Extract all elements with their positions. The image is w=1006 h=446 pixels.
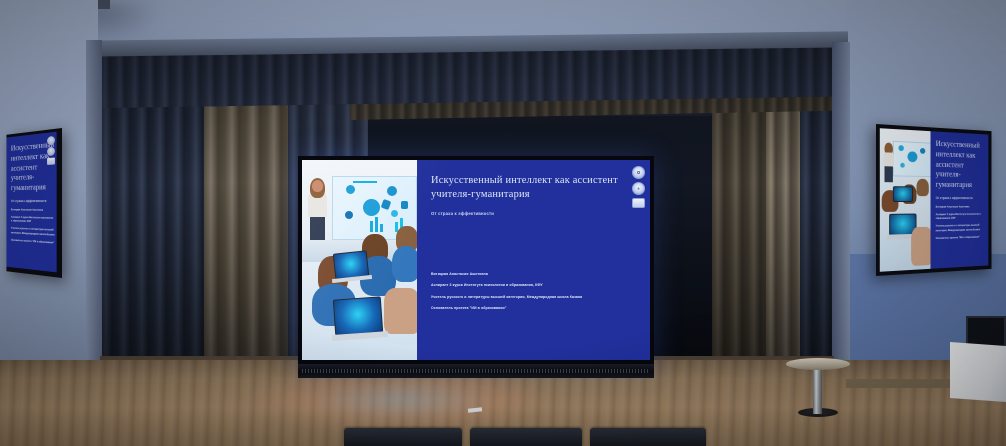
credit-position-teacher: Учитель русского и литературы высшей кат… xyxy=(936,224,986,233)
slide-credits: Витицкая Анастасия Ашотовна Аспирант 3 к… xyxy=(431,272,640,317)
curtain-right-dark xyxy=(800,94,834,386)
credit-position-phd: Аспирант 3 курса Института психологии и … xyxy=(936,213,986,221)
flipchart-sheet xyxy=(950,342,1006,402)
classroom-ai-lesson-photo xyxy=(302,160,417,360)
auditorium-scene: ✪ ⚜ Искусственный интеллект как ассистен… xyxy=(0,0,1006,446)
credit-position-phd: Аспирант 3 курса Института психологии и … xyxy=(11,216,55,225)
led-screen-base xyxy=(298,364,654,378)
partner-badge-logo xyxy=(632,198,645,208)
credit-position-teacher: Учитель русского и литературы высшей кат… xyxy=(431,295,640,300)
right-side-monitor[interactable]: Искусственный интеллект как ассистент уч… xyxy=(876,124,991,276)
table-pedestal xyxy=(813,366,822,414)
curtain-right-tan-1 xyxy=(712,98,774,386)
credit-author-name: Витицкая Анастасия Ашотовна xyxy=(936,205,986,209)
credit-position-phd: Аспирант 3 курса Института психологии и … xyxy=(431,283,640,288)
floor-screen-reflection xyxy=(250,372,550,428)
audience-chair[interactable] xyxy=(590,428,706,446)
slide-surface: ✪ ⚜ Искусственный интеллект как ассистен… xyxy=(302,160,650,360)
right-monitor-slide-text: Искусственный интеллект как ассистент уч… xyxy=(931,131,989,269)
institute-emblem-logo: ⚜ xyxy=(632,182,645,195)
white-flipchart-board[interactable] xyxy=(950,344,1006,402)
right-monitor-screen: Искусственный интеллект как ассистент уч… xyxy=(880,128,989,272)
left-monitor-subtitle: От страха к эффективности xyxy=(11,199,54,203)
partner-badge-logo xyxy=(47,158,55,165)
credit-author-name: Витицкая Анастасия Ашотовна xyxy=(11,209,55,214)
right-monitor-photo xyxy=(880,128,931,272)
teacher-figure xyxy=(310,215,325,241)
left-side-monitor[interactable]: Искусственный интеллект как ассистент уч… xyxy=(6,128,62,278)
university-emblem-logo: ✪ xyxy=(632,166,645,179)
left-monitor-screen: Искусственный интеллект как ассистент уч… xyxy=(6,132,56,273)
round-cocktail-table[interactable] xyxy=(786,358,850,420)
audience-chair[interactable] xyxy=(344,428,462,446)
left-monitor-credits: Витицкая Анастасия Ашотовна Аспирант 3 к… xyxy=(11,209,55,250)
curtain-left-dark xyxy=(100,90,208,386)
curtain-left-tan xyxy=(204,94,296,386)
slide-title: Искусственный интеллект как ассистент уч… xyxy=(431,174,640,201)
credit-project-founder: Основатель проекта "ИИ в образовании" xyxy=(11,238,55,245)
slide-subtitle: От страха к эффективности xyxy=(431,211,640,216)
table-top xyxy=(786,358,850,370)
credit-project-founder: Основатель проекта "ИИ в образовании" xyxy=(431,306,640,311)
right-monitor-credits: Витицкая Анастасия Ашотовна Аспирант 3 к… xyxy=(936,205,986,244)
audience-chair[interactable] xyxy=(470,428,582,446)
credit-project-founder: Основатель проекта "ИИ в образовании" xyxy=(936,235,986,241)
slide-logo-group: ✪ ⚜ xyxy=(632,166,645,208)
led-vent-strip xyxy=(302,369,650,373)
left-monitor-logos xyxy=(47,136,55,165)
left-monitor-slide-text: Искусственный интеллект как ассистент уч… xyxy=(6,132,56,273)
credit-position-teacher: Учитель русского и литературы высшей кат… xyxy=(11,227,55,237)
institute-emblem-logo xyxy=(47,147,55,157)
slide-text-panel: ✪ ⚜ Искусственный интеллект как ассистен… xyxy=(417,160,650,360)
right-monitor-subtitle: От страха к эффективности xyxy=(936,196,985,200)
university-emblem-logo xyxy=(47,136,55,146)
right-monitor-title: Искусственный интеллект как ассистент уч… xyxy=(936,139,985,191)
main-led-screen[interactable]: ✪ ⚜ Искусственный интеллект как ассистен… xyxy=(298,156,654,368)
credit-author-name: Витицкая Анастасия Ашотовна xyxy=(431,272,640,277)
